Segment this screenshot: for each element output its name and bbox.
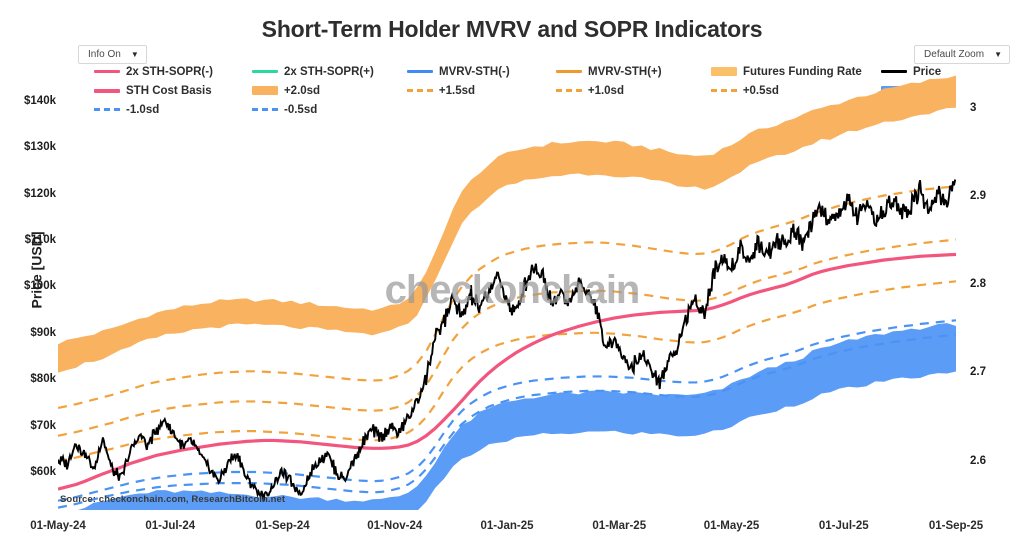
y-axis-right-tick-label: 2.7 [970,366,986,378]
x-axis-tick-label: 01-Nov-24 [367,520,422,532]
x-axis-tick-label: 01-Jul-25 [819,520,869,532]
y-axis-left-tick-label: $80k [0,373,56,385]
y-axis-right-tick-label: 2.6 [970,455,986,467]
price-line [58,180,956,501]
legend-swatch-icon [94,70,120,73]
y-axis-right-tick-label: 3 [970,102,976,114]
legend-swatch-icon [556,70,582,73]
x-axis-tick-label: 01-Sep-24 [255,520,309,532]
chart-band [58,323,956,510]
x-axis-tick-label: 01-Mar-25 [592,520,646,532]
plot-area[interactable] [58,74,956,510]
x-axis-tick-label: 01-Jul-24 [145,520,195,532]
chart-svg [58,74,956,510]
chevron-down-icon: ▼ [994,51,1002,59]
y-axis-left-tick-label: $100k [0,280,56,292]
y-axis-left-tick-label: $110k [0,234,56,246]
legend-swatch-icon [252,70,278,73]
y-axis-left-tick-label: $70k [0,420,56,432]
x-axis-tick-label: 01-May-25 [704,520,760,532]
y-axis-right-tick-label: 2.8 [970,278,986,290]
info-toggle-label: Info On [88,49,121,60]
y-axis-left-tick-label: $140k [0,95,56,107]
x-axis-tick-label: 01-May-24 [30,520,86,532]
y-axis-left-tick-label: $60k [0,466,56,478]
chart-page: Short-Term Holder MVRV and SOPR Indicato… [0,0,1024,557]
y-axis-right-tick-label: 2.9 [970,190,986,202]
chart-band [58,75,956,372]
y-axis-left-tick-label: $130k [0,141,56,153]
zoom-preset-label: Default Zoom [924,49,984,60]
legend-swatch-icon [407,70,433,73]
y-axis-right-title-wrap: MVRV and SOPR [1002,215,1024,385]
source-attribution: Source: checkonchain.com, ResearchBitcoi… [60,494,285,505]
y-axis-left-tick-label: $90k [0,327,56,339]
legend-swatch-icon [881,70,907,73]
y-axis-left-tick-label: $120k [0,188,56,200]
x-axis-tick-label: 01-Sep-25 [929,520,983,532]
y-axis-left-title-wrap: Price [USD] [0,200,22,340]
x-axis-tick-label: 01-Jan-25 [480,520,533,532]
page-title: Short-Term Holder MVRV and SOPR Indicato… [0,16,1024,43]
chevron-down-icon: ▼ [131,51,139,59]
